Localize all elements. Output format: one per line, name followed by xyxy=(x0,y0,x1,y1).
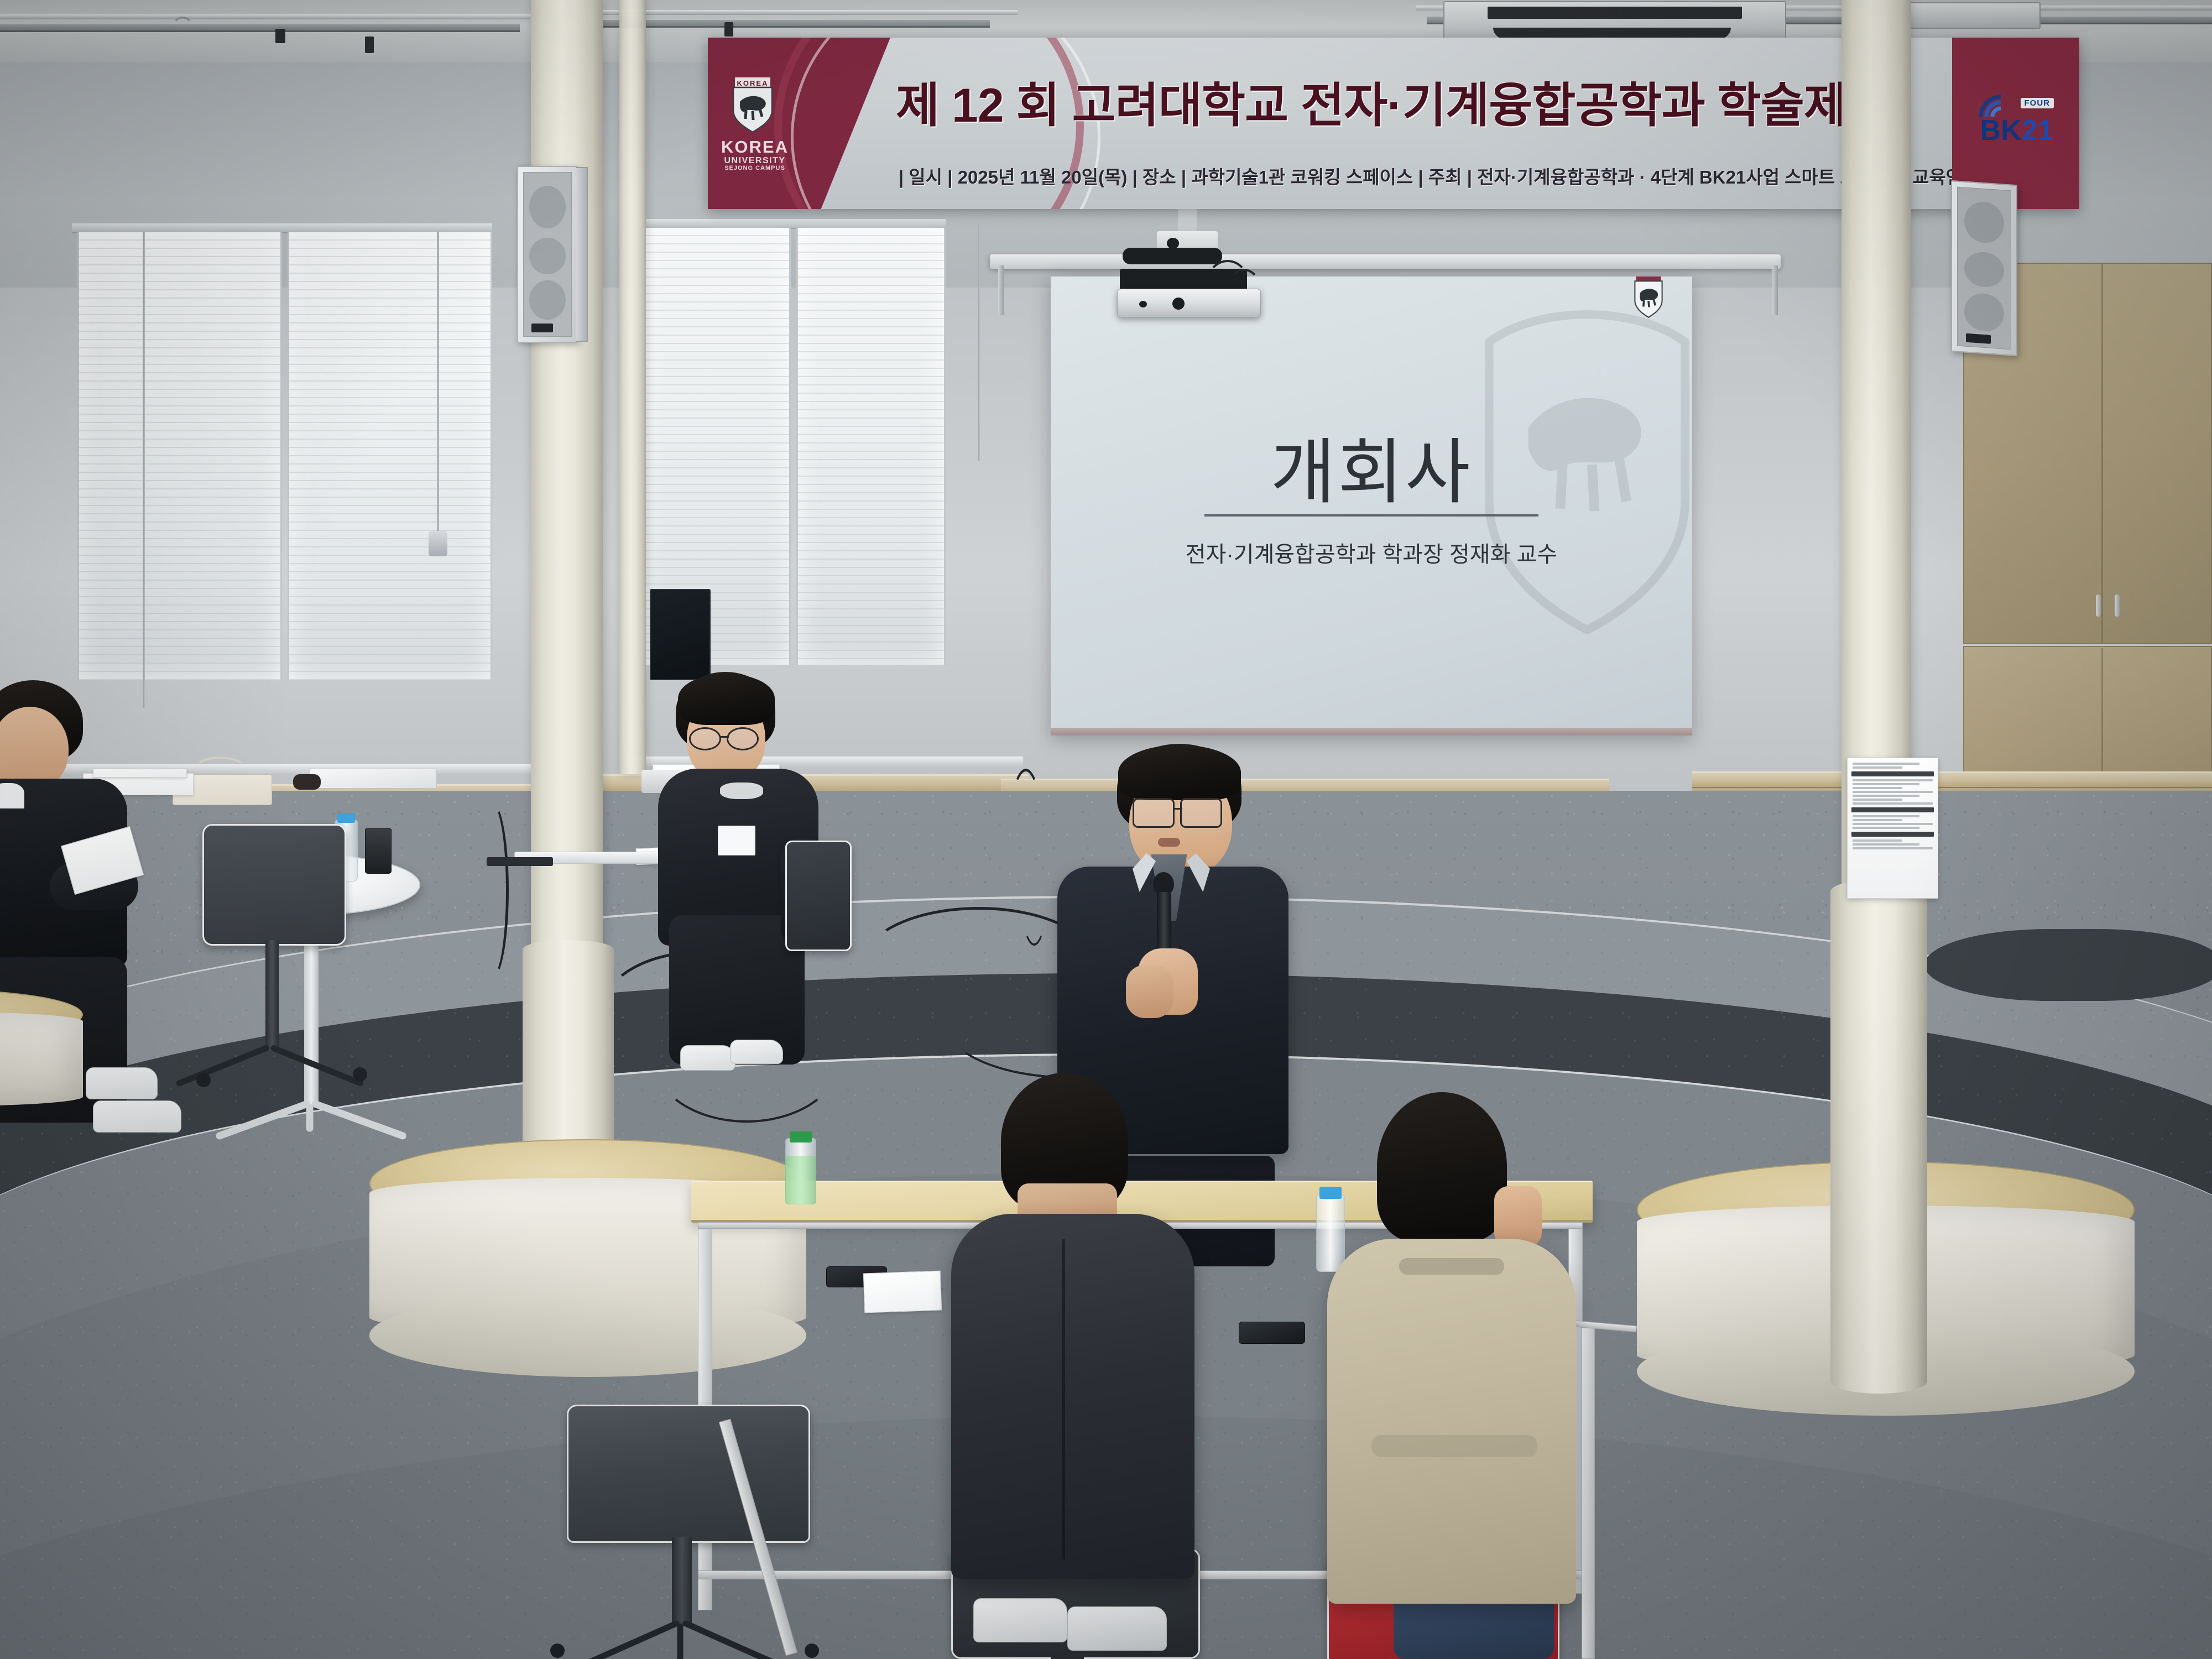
eyeglasses-right-lens xyxy=(727,727,759,750)
slide-subtitle: 전자·기계융합공학과 학과장 정재화 교수 xyxy=(1051,536,1692,568)
counter-top-farright xyxy=(1692,771,2212,789)
desk-cable xyxy=(487,857,553,866)
projector-mount-bolt xyxy=(1167,238,1179,249)
blind-cord xyxy=(143,232,145,708)
bk21-bk-label: BK xyxy=(1980,114,2022,147)
sheet-line xyxy=(1853,763,1919,765)
bottle-cap xyxy=(337,813,355,823)
eyeglasses-bridge xyxy=(720,736,729,738)
shoe xyxy=(973,1598,1067,1642)
korea-university-crest-icon: KOREA xyxy=(729,77,776,135)
mouth xyxy=(1158,838,1180,847)
eyeglasses-right-lens xyxy=(1180,798,1222,828)
blind-cord xyxy=(978,223,980,461)
sheet-line xyxy=(1853,843,1919,846)
ceiling-cable xyxy=(171,17,194,43)
laptop-closed[interactable] xyxy=(310,769,437,789)
projector-lens xyxy=(1172,298,1185,310)
speaker-driver xyxy=(529,280,565,320)
blind-cord-weight xyxy=(429,531,447,556)
round-table-foot xyxy=(306,1104,314,1132)
cabinet-handle[interactable] xyxy=(2096,594,2101,617)
sheet-header xyxy=(1851,771,1934,776)
pa-speaker-right xyxy=(1951,180,2017,356)
wall-monitor[interactable] xyxy=(650,589,711,680)
hair-front xyxy=(1118,745,1241,800)
sheet-header xyxy=(1851,807,1934,812)
water-bottle-front[interactable] xyxy=(1316,1194,1345,1272)
column-right-lower xyxy=(1830,1084,1927,1394)
chair-caster xyxy=(805,1644,819,1658)
bottle-cap xyxy=(1319,1187,1342,1199)
program-schedule-sheet[interactable] xyxy=(1847,758,1938,899)
ceiling-fixture xyxy=(724,22,733,36)
green-bottle-body xyxy=(785,1156,816,1204)
ear-hand xyxy=(1494,1186,1542,1247)
shoe xyxy=(680,1045,735,1071)
bk21-four-label: FOUR xyxy=(2021,98,2054,108)
bk21-number-label: 21 xyxy=(2022,114,2054,147)
shoe xyxy=(1067,1606,1167,1651)
sheet-header xyxy=(1851,832,1934,837)
hair xyxy=(1377,1092,1507,1241)
sheet-line xyxy=(1853,802,1933,805)
computer-mouse[interactable] xyxy=(293,774,321,790)
window-blind-mid xyxy=(288,232,492,680)
chair-stem xyxy=(265,940,279,1051)
speaker-driver xyxy=(1964,251,2005,289)
banner-title: 제 12 회 고려대학교 전자·기계융합공학과 학술제 xyxy=(896,66,1847,135)
paper-on-table[interactable] xyxy=(863,1271,942,1313)
projector-cable-bundle xyxy=(1123,248,1222,264)
tablet-on-table[interactable] xyxy=(1239,1322,1305,1344)
chair-foot xyxy=(677,1624,684,1659)
window-blind-right-2 xyxy=(796,228,946,665)
sheet-line xyxy=(1853,847,1933,849)
sheet-line xyxy=(1853,766,1902,769)
torso-jacket xyxy=(951,1214,1194,1579)
sheet-line xyxy=(1853,787,1902,789)
svg-text:KOREA: KOREA xyxy=(737,79,769,87)
sheet-line xyxy=(1853,819,1902,821)
university-name: KOREA xyxy=(713,138,796,156)
sheet-line xyxy=(1853,779,1933,781)
hoodie-logo xyxy=(720,782,763,799)
projection-screen: 개회사 전자·기계융합공학과 학과장 정재화 교수 xyxy=(1051,276,1692,735)
university-wordmark: KOREA UNIVERSITY SEJONG CAMPUS xyxy=(713,138,796,172)
papers-on-shelf[interactable] xyxy=(93,769,187,778)
ceiling-beam xyxy=(603,20,990,28)
university-subname: UNIVERSITY xyxy=(713,156,796,166)
slide-divider xyxy=(1204,514,1538,517)
screen-housing xyxy=(990,254,1781,269)
hand-left xyxy=(1126,965,1173,1018)
shoe xyxy=(730,1040,783,1064)
shirt-collar xyxy=(0,783,24,808)
sheet-line xyxy=(1853,799,1902,801)
column-bench-base-left xyxy=(369,1294,806,1377)
chair-caster xyxy=(196,1073,211,1087)
ceiling-fixture xyxy=(365,36,374,53)
floor-band-dark-right xyxy=(1924,929,2212,1001)
window-blind-left xyxy=(77,232,282,680)
chair-operator-back[interactable] xyxy=(785,841,852,951)
coffee-cup[interactable] xyxy=(365,828,392,874)
speaker-driver xyxy=(1964,292,2005,333)
slide-title: 개회사 xyxy=(1051,415,1692,517)
bk21-wave-icon xyxy=(1979,95,2008,119)
sheet-line xyxy=(1853,839,1902,842)
column-left-round-base xyxy=(523,940,614,1172)
bk21-logo: FOUR BK21 xyxy=(1970,90,2064,156)
chair-stem xyxy=(672,1537,692,1626)
ceiling-rail xyxy=(0,14,553,19)
speaker-driver xyxy=(529,186,565,228)
wall-cable xyxy=(476,802,509,979)
chair-empty-front-back[interactable] xyxy=(567,1405,810,1543)
projector-port xyxy=(1139,301,1147,307)
hair-front xyxy=(678,674,775,725)
tote-bag-handle xyxy=(194,757,247,782)
eyeglasses-left-lens xyxy=(1133,798,1175,828)
name-badge xyxy=(718,826,755,855)
pa-speaker-left xyxy=(517,166,578,343)
ceiling-duct-vent xyxy=(1493,28,1731,39)
cabinet-handle[interactable] xyxy=(2115,594,2120,617)
speaker-driver xyxy=(1964,200,2005,244)
jacket-seam xyxy=(1062,1239,1065,1559)
sheet-line xyxy=(1853,827,1919,829)
speaker-grille xyxy=(523,172,572,337)
ceiling-beam xyxy=(0,24,520,32)
chair-caster xyxy=(353,1067,367,1082)
column-bench-body-farleft xyxy=(0,1012,83,1106)
sweater-fold xyxy=(1371,1435,1537,1457)
ceiling-duct-vent xyxy=(1488,7,1742,19)
table-leg-foreground-right xyxy=(1582,1327,1595,1659)
chair-side-table-back[interactable] xyxy=(202,824,346,946)
sheet-line xyxy=(1853,795,1919,797)
cabinet-seam xyxy=(2101,264,2103,643)
university-campus: SEJONG CAMPUS xyxy=(713,165,796,172)
screen-bottom-bar xyxy=(1051,728,1692,735)
sheet-line xyxy=(1853,791,1933,793)
torso-sweater xyxy=(1327,1239,1576,1604)
sweater-fold xyxy=(1399,1258,1504,1275)
ceiling-fixture xyxy=(275,29,285,43)
eyeglasses-bridge xyxy=(1173,808,1182,810)
chair-caster xyxy=(550,1644,565,1658)
wall-cable xyxy=(1018,791,1051,946)
projector-cable xyxy=(1228,269,1261,310)
banner-subtitle: | 일시 | 2025년 11월 20일(목) | 장소 | 과학기술1관 코워… xyxy=(899,163,1996,189)
speaker-grille xyxy=(1957,187,2011,350)
shoe xyxy=(86,1067,158,1099)
bottle-cap xyxy=(790,1131,812,1142)
sheet-line xyxy=(1853,783,1919,785)
eyeglasses-left-lens xyxy=(689,727,721,750)
blind-cord xyxy=(437,231,439,541)
screen-arm-left xyxy=(998,265,1004,315)
speaker-driver xyxy=(529,238,565,274)
screen-arm-right xyxy=(1772,265,1778,315)
korea-university-crest-icon xyxy=(1631,276,1666,320)
speaker-brand-plate xyxy=(1966,333,1990,344)
structural-column-slim xyxy=(619,0,646,774)
sheet-line xyxy=(1853,823,1933,825)
ceiling-rail xyxy=(597,10,1018,15)
sheet-line xyxy=(1853,815,1919,817)
shoe xyxy=(93,1100,181,1133)
speaker-side-panel xyxy=(576,167,588,342)
speaker-brand-plate xyxy=(531,324,554,332)
conference-photo-scene: 개회사 전자·기계융합공학과 학과장 정재화 교수 KOREA xyxy=(0,0,2212,1659)
